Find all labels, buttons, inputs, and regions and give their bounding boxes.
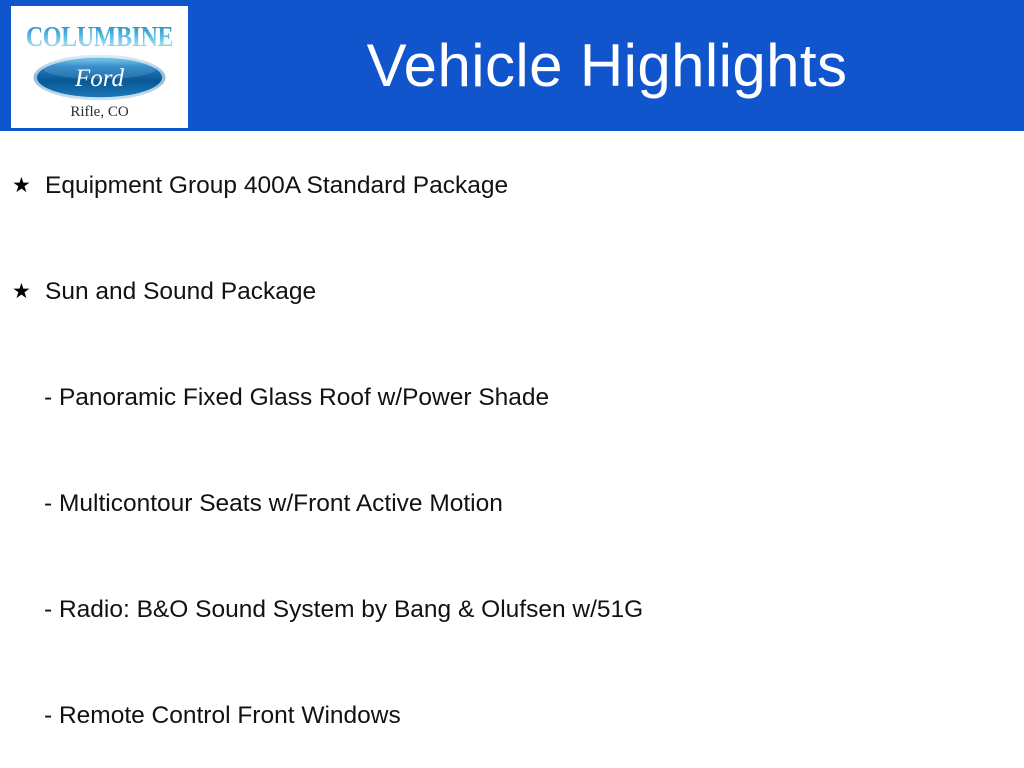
- sub-list-item: - Remote Control Front Windows: [0, 696, 1024, 736]
- star-bullet-icon: ★: [12, 174, 34, 198]
- list-item-label: Equipment Group 400A Standard Package: [45, 171, 508, 201]
- svg-text:Ford: Ford: [74, 65, 125, 92]
- sub-list-item-label: - Multicontour Seats w/Front Active Moti…: [44, 489, 503, 519]
- dealer-name-wordmark: COLUMBINE: [23, 24, 175, 52]
- sub-list-item: - Multicontour Seats w/Front Active Moti…: [0, 484, 1024, 524]
- page-title: Vehicle Highlights: [190, 22, 1024, 110]
- sub-list-item-label: - Remote Control Front Windows: [44, 701, 401, 731]
- list-item-label: Sun and Sound Package: [45, 277, 316, 307]
- ford-oval-icon: Ford: [33, 54, 166, 101]
- dealer-logo: COLUMBINE: [11, 6, 188, 128]
- sub-list-item: - Radio: B&O Sound System by Bang & Oluf…: [0, 590, 1024, 630]
- star-bullet-icon: ★: [12, 280, 34, 304]
- sub-list-item-label: - Panoramic Fixed Glass Roof w/Power Sha…: [44, 383, 549, 413]
- list-item: ★ Sun and Sound Package: [0, 272, 1024, 312]
- list-item: ★ Equipment Group 400A Standard Package: [0, 166, 1024, 206]
- slide-body: ★ Equipment Group 400A Standard Package …: [0, 131, 1024, 768]
- sub-list-item: - Panoramic Fixed Glass Roof w/Power Sha…: [0, 378, 1024, 418]
- slide-header-banner: COLUMBINE: [0, 0, 1024, 131]
- dealer-city-label: Rifle, CO: [11, 104, 188, 121]
- ford-oval-svg: Ford: [33, 54, 166, 101]
- sub-list-item-label: - Radio: B&O Sound System by Bang & Oluf…: [44, 595, 643, 625]
